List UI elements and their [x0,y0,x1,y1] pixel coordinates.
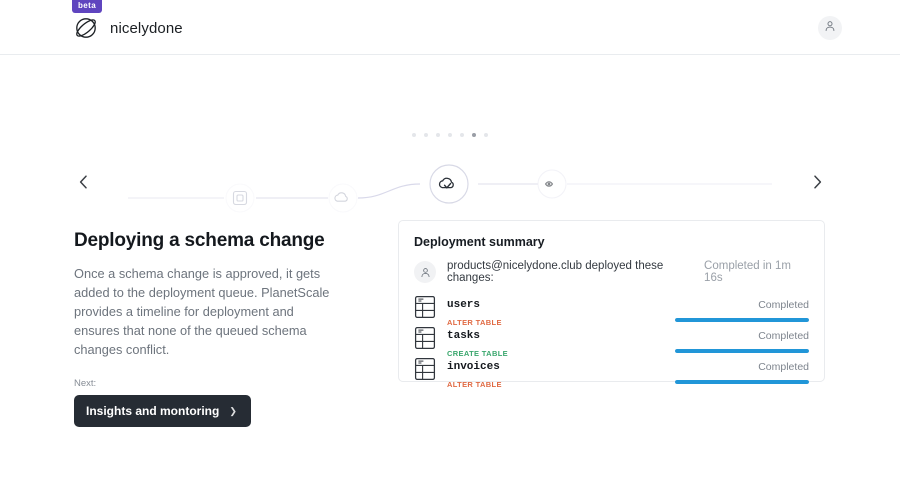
carousel-dot[interactable] [460,133,464,137]
table-icon [414,357,436,386]
brand-logo-link[interactable]: nicelydone [72,14,183,42]
intro-panel: Deploying a schema change Once a schema … [74,230,342,427]
progress-bar-fill [675,318,809,322]
change-progress: Completed [675,356,809,384]
timeline-connector-curve [358,184,420,198]
deployer-text: products@nicelydone.club deployed these … [447,260,704,284]
intro-description: Once a schema change is approved, it get… [74,264,342,359]
change-progress: Completed [675,294,809,322]
table-name: tasks [447,330,480,342]
planet-ring-logo-icon [72,14,100,42]
timeline-carousel [0,55,900,220]
deployment-timeline [0,153,900,215]
page-title: Deploying a schema change [74,230,342,252]
table-row[interactable]: tasks CREATE TABLE Completed [414,325,809,354]
status-badge: Completed [758,299,809,311]
table-name: invoices [447,361,500,373]
carousel-dot[interactable] [484,133,488,137]
schema-changes-list: users ALTER TABLE Completed [399,284,824,385]
progress-bar-fill [675,380,809,384]
deployment-duration: Completed in 1m 16s [704,260,809,284]
next-step-button-label: Insights and montoring [86,404,219,418]
progress-bar [675,318,809,322]
table-row[interactable]: invoices ALTER TABLE Completed [414,356,809,385]
carousel-dots[interactable] [0,133,900,137]
change-meta: invoices ALTER TABLE [447,356,502,392]
user-avatar-icon [414,261,436,283]
deployment-summary-title: Deployment summary [399,221,824,249]
chevron-right-icon: ❯ [229,406,237,417]
carousel-dot[interactable] [448,133,452,137]
table-icon [414,326,436,355]
user-avatar-icon [824,19,836,37]
deployment-summary-card: Deployment summary products@nicelydone.c… [398,220,825,382]
timeline-node-active-deploy[interactable] [430,165,468,203]
table-row[interactable]: users ALTER TABLE Completed [414,294,809,323]
carousel-dot[interactable] [424,133,428,137]
timeline-node-insights[interactable] [538,170,566,198]
app-header: beta nicelydone [0,0,900,55]
next-step-button[interactable]: Insights and montoring ❯ [74,395,251,427]
next-label: Next: [74,378,342,389]
timeline-node-cloud[interactable] [329,184,357,212]
progress-bar [675,349,809,353]
deployer-row: products@nicelydone.club deployed these … [399,249,824,284]
progress-bar-fill [675,349,809,353]
table-name: users [447,299,480,311]
account-button[interactable] [818,16,842,40]
carousel-dot[interactable] [436,133,440,137]
brand-name: nicelydone [110,20,183,37]
carousel-dot-active[interactable] [472,133,476,137]
status-badge: Completed [758,330,809,342]
progress-bar [675,380,809,384]
timeline-node-database[interactable] [226,184,254,212]
status-badge: Completed [758,361,809,373]
carousel-dot[interactable] [412,133,416,137]
change-progress: Completed [675,325,809,353]
table-operation: ALTER TABLE [447,380,502,389]
beta-badge: beta [72,0,102,13]
table-icon [414,295,436,324]
main-content: Deploying a schema change Once a schema … [0,220,900,484]
